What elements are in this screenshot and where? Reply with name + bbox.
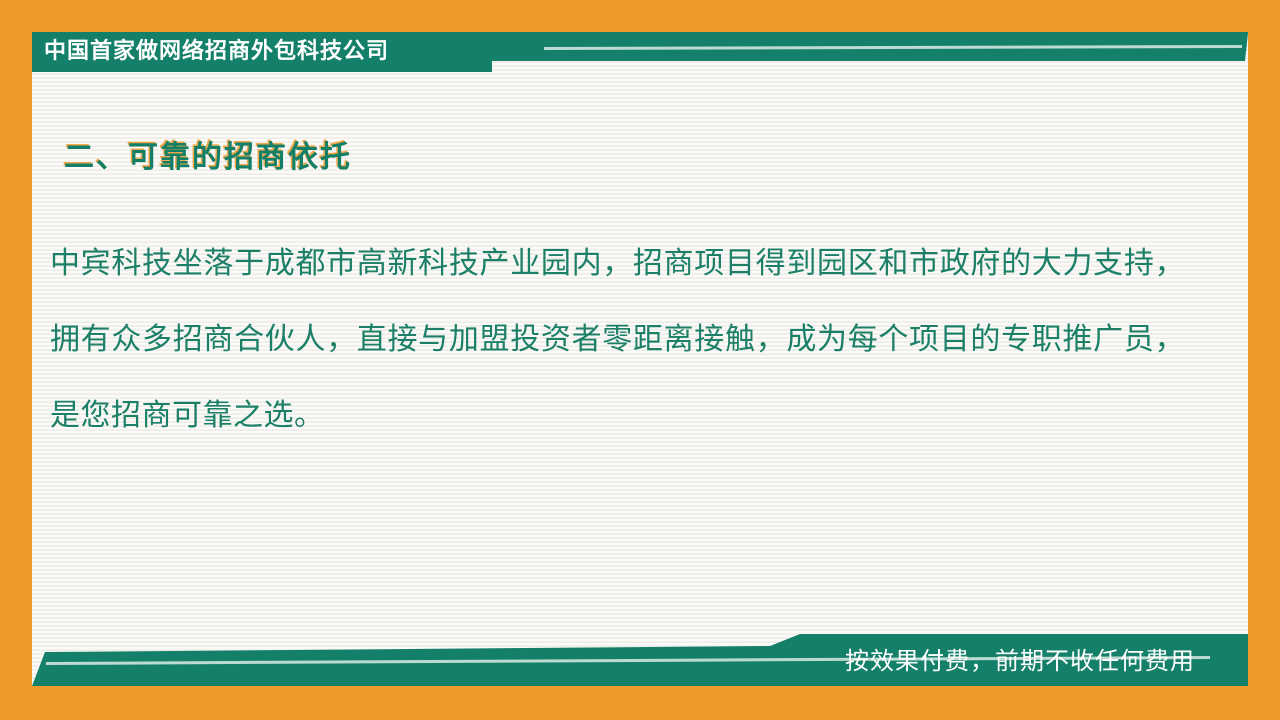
slide-canvas: 中国首家做网络招商外包科技公司 二、可靠的招商依托 中宾科技坐落于成都市高新科技…	[0, 0, 1280, 720]
page-title: 二、可靠的招商依托	[64, 132, 352, 176]
footer-slogan: 按效果付费，前期不收任何费用	[845, 645, 1195, 679]
body-paragraph: 中宾科技坐落于成都市高新科技产业园内，招商项目得到园区和市政府的大力支持，拥有众…	[50, 226, 1185, 454]
header-company-tagline: 中国首家做网络招商外包科技公司	[44, 34, 389, 68]
